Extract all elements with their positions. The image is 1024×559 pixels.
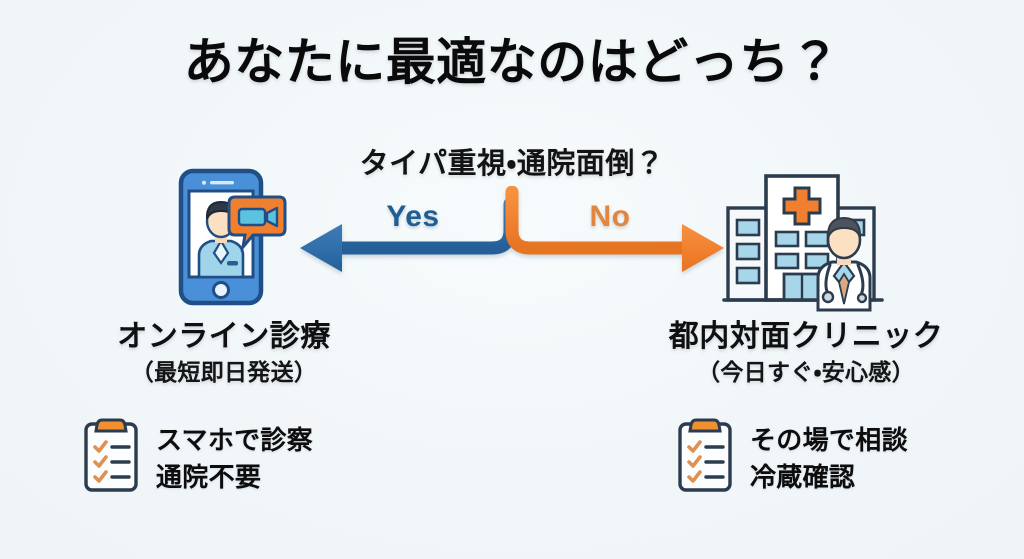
- benefits-online-list: スマホで診察 通院不要: [156, 416, 313, 496]
- hospital-doctor-icon: [722, 166, 884, 312]
- option-title-clinic: 都内対面クリニック: [648, 318, 964, 356]
- benefit-item: スマホで診察: [156, 422, 313, 459]
- option-subtitle-online: （最短即日発送）: [74, 356, 374, 388]
- benefit-item: 通院不要: [156, 459, 313, 496]
- clipboard-checklist-icon: [82, 416, 140, 492]
- option-label-clinic: 都内対面クリニック （今日すぐ・安心感）: [648, 318, 964, 389]
- decision-branch-arrows: [296, 186, 726, 278]
- benefits-online: スマホで診察 通院不要: [82, 416, 313, 496]
- benefits-clinic: その場で相談 冷蔵確認: [676, 416, 908, 496]
- infographic-canvas: あなたに最適なのはどっち？ タイパ重視・通院面倒？: [0, 0, 1024, 559]
- clipboard-checklist-icon: [676, 416, 734, 492]
- option-label-online: オンライン診療 （最短即日発送）: [74, 318, 374, 389]
- benefit-item: 冷蔵確認: [750, 459, 908, 496]
- page-title: あなたに最適なのはどっち？: [0, 34, 1024, 92]
- branch-label-no: No: [568, 200, 652, 234]
- benefit-item: その場で相談: [750, 422, 908, 459]
- smartphone-video-consult-icon: [163, 167, 295, 307]
- option-title-online: オンライン診療: [74, 318, 374, 356]
- benefits-clinic-list: その場で相談 冷蔵確認: [750, 416, 908, 496]
- option-subtitle-clinic: （今日すぐ・安心感）: [648, 356, 964, 388]
- branch-label-yes: Yes: [368, 200, 458, 234]
